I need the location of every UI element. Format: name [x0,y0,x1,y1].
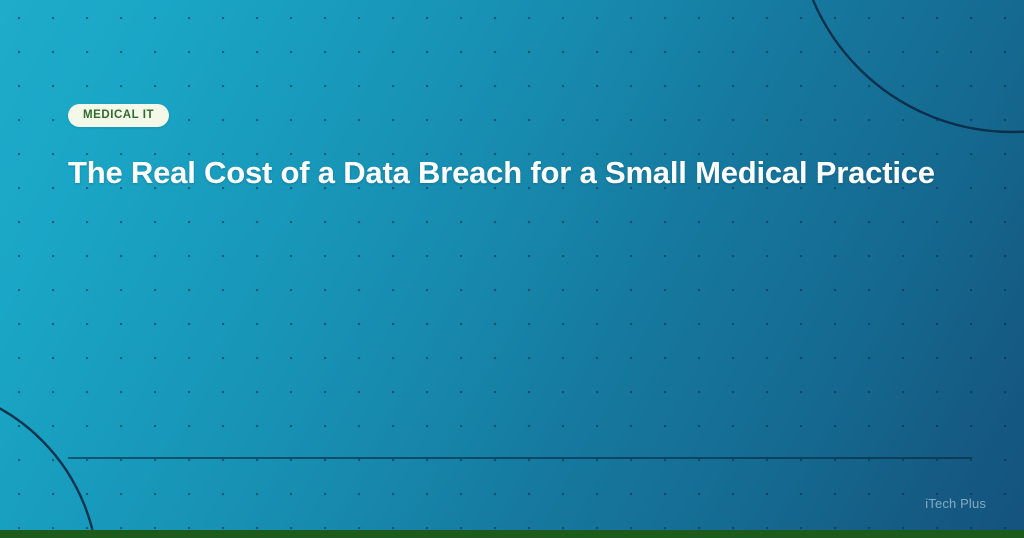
brand-watermark: iTech Plus [925,497,986,510]
category-badge: MEDICAL IT [68,104,169,127]
horizontal-divider [68,457,972,459]
category-badge-label: MEDICAL IT [83,110,154,122]
slide-canvas: MEDICAL IT The Real Cost of a Data Breac… [0,0,1024,538]
arc-top-right [796,0,1024,132]
bottom-accent-bar [0,530,1024,538]
arc-bottom-left [0,384,98,538]
slide-title: The Real Cost of a Data Breach for a Sma… [68,153,988,193]
